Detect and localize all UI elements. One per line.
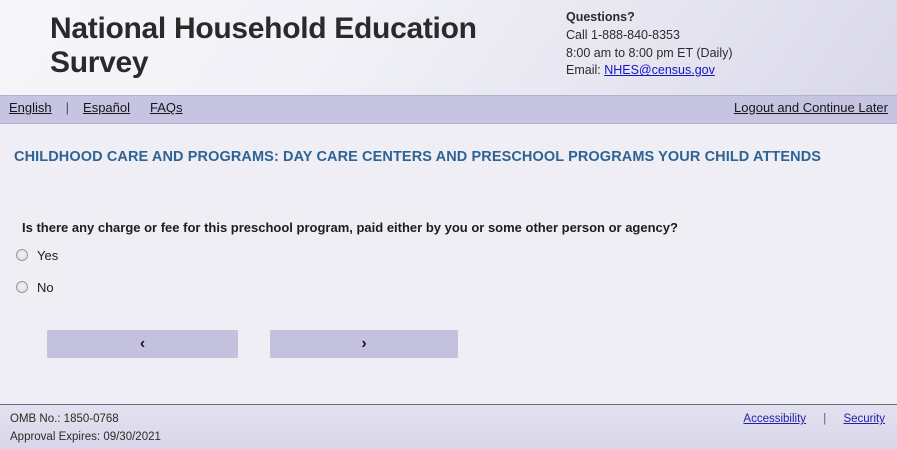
nav-separator: |: [66, 100, 69, 115]
footer-omb-block: OMB No.: 1850-0768 Approval Expires: 09/…: [10, 411, 161, 447]
nav-link-faqs[interactable]: FAQs: [150, 100, 183, 115]
site-brand-title: National Household Education Survey: [50, 12, 550, 79]
navbar-left-links: English | Español FAQs: [9, 100, 183, 115]
footer-approval-expires: Approval Expires: 09/30/2021: [10, 429, 161, 447]
back-button[interactable]: ‹: [47, 330, 238, 358]
next-button[interactable]: ›: [270, 330, 458, 358]
page-header: National Household Education Survey Ques…: [0, 0, 897, 95]
nav-link-english[interactable]: English: [9, 100, 52, 115]
radio-option-yes[interactable]: Yes: [16, 244, 58, 266]
footer-omb-number: OMB No.: 1850-0768: [10, 411, 161, 429]
radio-option-no[interactable]: No: [16, 276, 58, 298]
contact-email-prefix: Email:: [566, 63, 604, 77]
page-title: CHILDHOOD CARE AND PROGRAMS: DAY CARE CE…: [14, 147, 880, 169]
nav-link-espanol[interactable]: Español: [83, 100, 130, 115]
contact-email-line: Email: NHES@census.gov: [566, 62, 733, 80]
radio-label-yes: Yes: [37, 248, 58, 263]
brand-title-line2: Survey: [50, 46, 148, 79]
contact-phone-line: Call 1-888-840-8353: [566, 27, 733, 45]
question-text: Is there any charge or fee for this pres…: [22, 220, 678, 235]
survey-page: National Household Education Survey Ques…: [0, 0, 897, 449]
chevron-right-icon: ›: [270, 330, 458, 358]
chevron-left-icon: ‹: [47, 330, 238, 358]
utility-navbar: English | Español FAQs Logout and Contin…: [0, 95, 897, 124]
radio-button-yes[interactable]: [16, 249, 28, 261]
contact-info-block: Questions? Call 1-888-840-8353 8:00 am t…: [566, 9, 733, 80]
contact-questions-label: Questions?: [566, 9, 733, 27]
navigation-button-row: ‹ ›: [0, 330, 897, 360]
main-content: CHILDHOOD CARE AND PROGRAMS: DAY CARE CE…: [0, 124, 897, 404]
contact-email-link[interactable]: NHES@census.gov: [604, 63, 715, 77]
footer-separator: |: [823, 413, 826, 425]
brand-title-line1: National Household Education: [50, 12, 477, 45]
radio-label-no: No: [37, 280, 54, 295]
page-footer: OMB No.: 1850-0768 Approval Expires: 09/…: [0, 404, 897, 449]
footer-links: Accessibility | Security: [743, 413, 885, 425]
nav-link-logout-continue-later[interactable]: Logout and Continue Later: [734, 100, 888, 115]
answer-options-group: Yes No: [16, 244, 58, 308]
footer-link-accessibility[interactable]: Accessibility: [743, 413, 806, 425]
contact-hours-line: 8:00 am to 8:00 pm ET (Daily): [566, 45, 733, 63]
radio-button-no[interactable]: [16, 281, 28, 293]
navbar-right-links: Logout and Continue Later: [734, 100, 888, 115]
footer-link-security[interactable]: Security: [843, 413, 885, 425]
